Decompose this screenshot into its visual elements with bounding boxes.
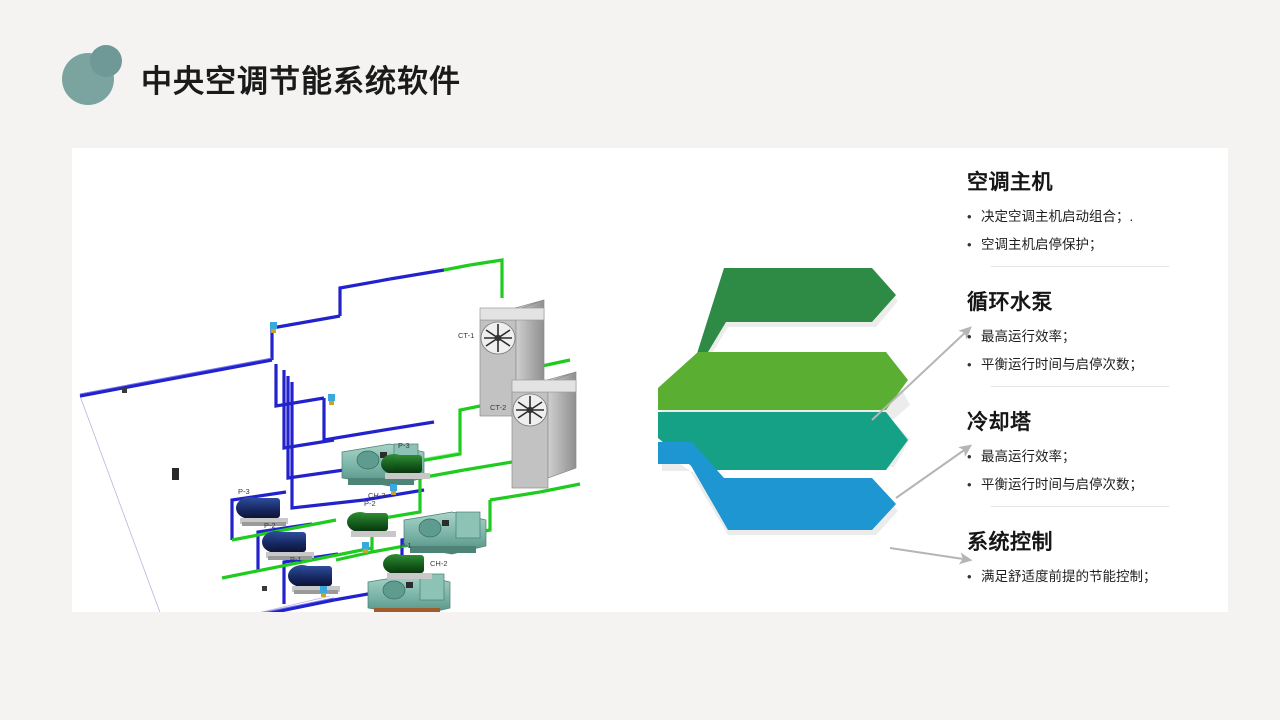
bullet-text: 最高运行效率； (981, 448, 1076, 466)
bullet-marker-icon: • (967, 236, 981, 254)
label-P-2-chilled: P-2 (264, 521, 276, 530)
content-card: CH-3 CH-2 CH-1 P-3 P-2 P-1 P-3 P-2 P-1 C… (72, 148, 1228, 612)
detail-block-pump: 循环水泵 • 最高运行效率； • 平衡运行时间与启停次数； (967, 286, 1227, 387)
bullet-text: 满足舒适度前提的节能控制； (981, 568, 1157, 586)
bullet-text: 平衡运行时间与启停次数； (981, 356, 1143, 374)
pump-P-1-condenser (383, 554, 432, 579)
bullet-marker-icon: • (967, 568, 981, 586)
label-P-3-chilled: P-3 (238, 487, 250, 496)
section-divider (991, 386, 1169, 387)
bullet-item: • 平衡运行时间与启停次数； (967, 476, 1227, 494)
chiller-CH-1 (368, 574, 450, 612)
connector-arrow-cooling-tower (890, 548, 970, 560)
bullet-item: • 平衡运行时间与启停次数； (967, 356, 1227, 374)
bullet-marker-icon: • (967, 328, 981, 346)
bullet-text: 平衡运行时间与启停次数； (981, 476, 1143, 494)
central-air-conditioning-plant-3d-diagram: CH-3 CH-2 CH-1 P-3 P-2 P-1 P-3 P-2 P-1 C… (72, 148, 632, 612)
pump-P-3-chilled (236, 497, 288, 526)
detail-column: 空调主机 • 决定空调主机启动组合；. • 空调主机启停保护； 循环水泵 • 最… (967, 158, 1227, 608)
label-P-1-chilled: P-1 (290, 555, 302, 564)
ribbon-pump (658, 352, 908, 410)
slide-header: 中央空调节能系统软件 (0, 0, 1280, 140)
label-CT-1: CT-1 (458, 331, 474, 340)
logo-circle-small (90, 45, 122, 77)
bullet-item: • 满足舒适度前提的节能控制； (967, 568, 1227, 586)
section-divider (991, 266, 1169, 267)
page-title: 中央空调节能系统软件 (141, 56, 461, 101)
bullet-text: 决定空调主机启动组合；. (981, 208, 1133, 226)
bullet-item: • 决定空调主机启动组合；. (967, 208, 1227, 226)
bullet-item: • 最高运行效率； (967, 328, 1227, 346)
pump-P-2-chilled (262, 531, 314, 560)
pump-P-1-chilled (288, 565, 340, 594)
chiller-CH-2 (404, 512, 486, 554)
bullet-text: 空调主机启停保护； (981, 236, 1103, 254)
label-CH-2: CH-2 (430, 559, 448, 568)
bullet-item: • 最高运行效率； (967, 448, 1227, 466)
bullet-marker-icon: • (967, 448, 981, 466)
detail-block-cooling-tower: 冷却塔 • 最高运行效率； • 平衡运行时间与启停次数； (967, 406, 1227, 507)
overlapping-circles-logo (62, 45, 124, 105)
section-divider (991, 506, 1169, 507)
detail-block-chiller: 空调主机 • 决定空调主机启动组合；. • 空调主机启停保护； (967, 166, 1227, 267)
bullet-text: 最高运行效率； (981, 328, 1076, 346)
detail-block-system-control: 系统控制 • 满足舒适度前提的节能控制； (967, 526, 1227, 596)
label-P-1-condenser: P-1 (400, 541, 412, 550)
process-ribbon-group (572, 248, 912, 548)
detail-heading: 系统控制 (967, 526, 1227, 556)
detail-heading: 空调主机 (967, 166, 1227, 196)
bullet-marker-icon: • (967, 356, 981, 374)
detail-heading: 循环水泵 (967, 286, 1227, 316)
label-CT-2: CT-2 (490, 403, 506, 412)
detail-heading: 冷却塔 (967, 406, 1227, 436)
bullet-marker-icon: • (967, 476, 981, 494)
bullet-item: • 空调主机启停保护； (967, 236, 1227, 254)
label-P-3-condenser: P-3 (398, 441, 410, 450)
bullet-marker-icon: • (967, 208, 981, 226)
label-P-2-condenser: P-2 (364, 499, 376, 508)
cooling-tower-CT-2 (512, 372, 576, 488)
